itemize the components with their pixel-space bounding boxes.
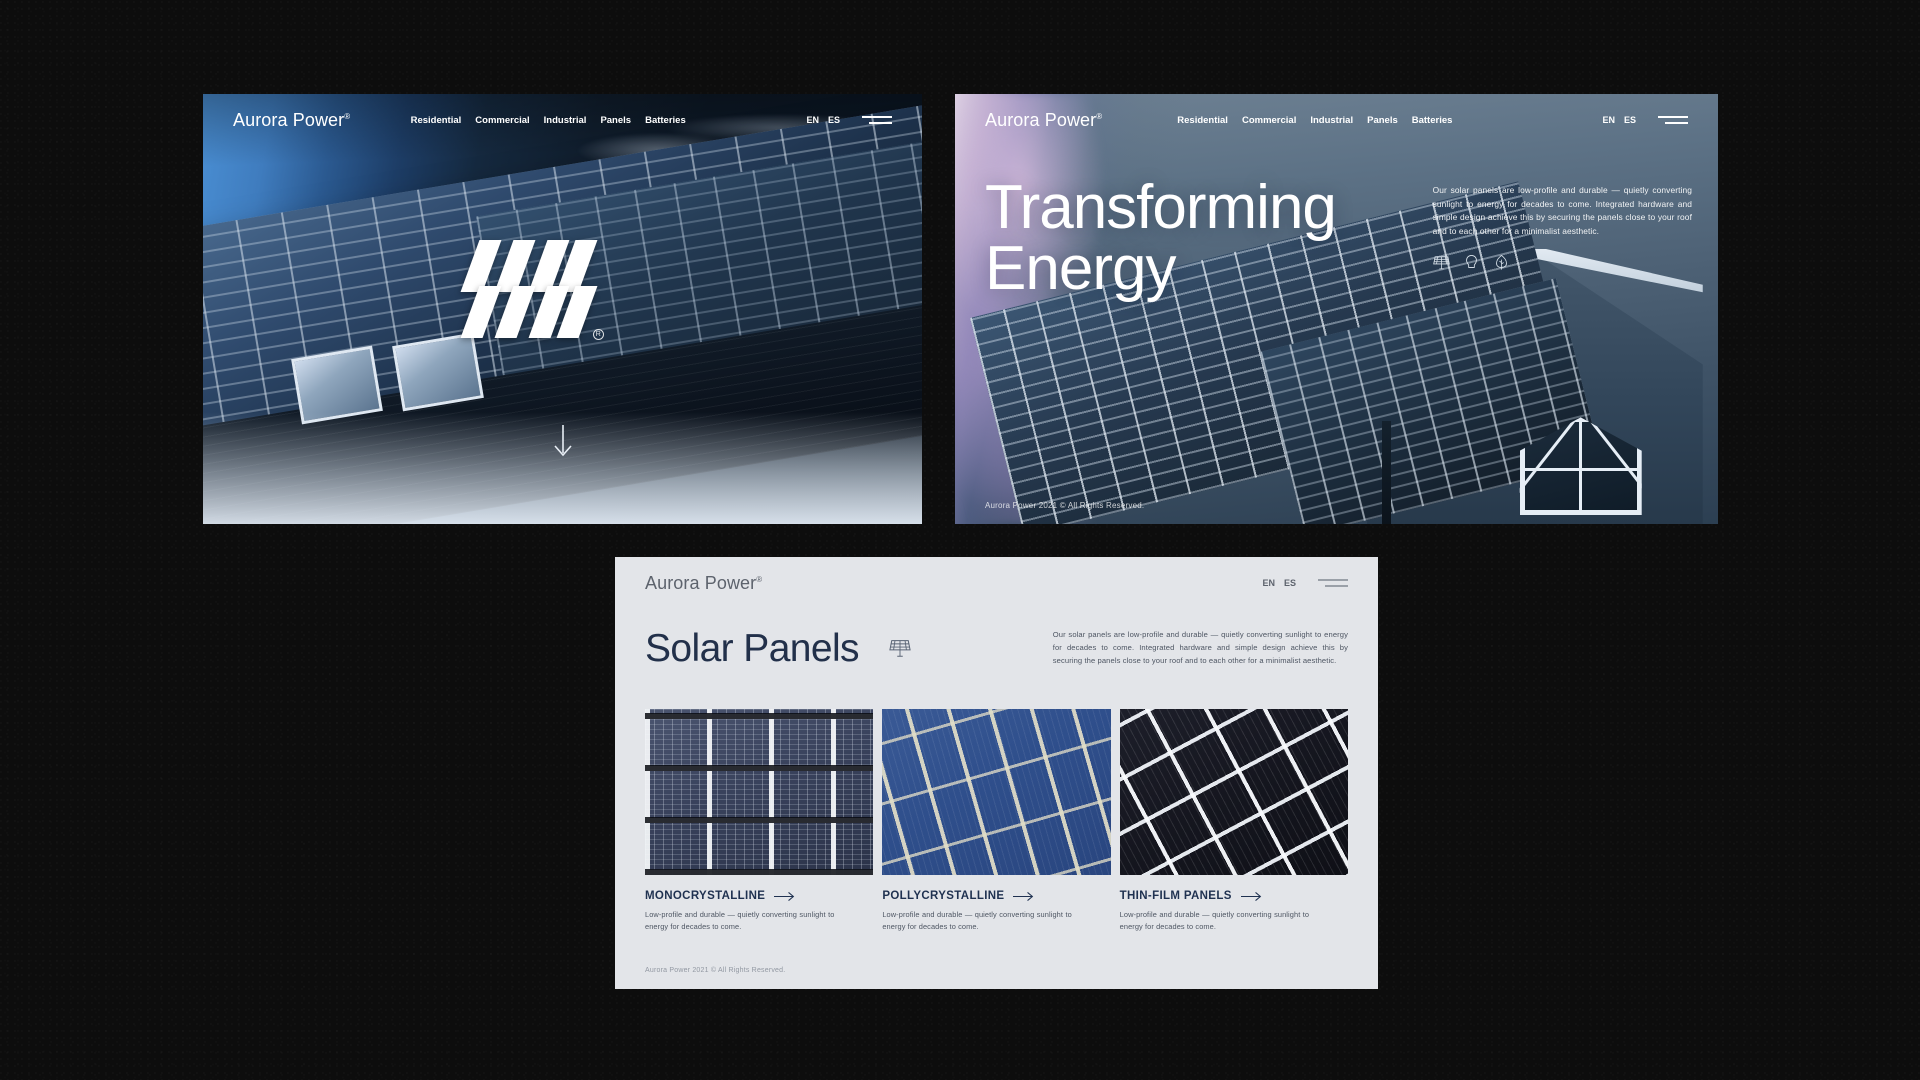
solar-panels-product-screen: Aurora Power® EN ES Solar Panels Our sol… <box>615 557 1378 989</box>
language-switcher: EN ES <box>1262 578 1296 588</box>
brand-logo[interactable]: Aurora Power® <box>985 110 1102 131</box>
nav-item-commercial[interactable]: Commercial <box>475 115 529 126</box>
lang-es[interactable]: ES <box>1284 578 1296 588</box>
product-card-title-row: THIN-FILM PANELS <box>1120 890 1348 902</box>
brand-name: Aurora Power <box>985 110 1096 130</box>
product-description: Low-profile and durable — quietly conver… <box>882 909 1072 933</box>
language-switcher: EN ES <box>1602 115 1636 125</box>
nav-item-residential[interactable]: Residential <box>1177 115 1228 126</box>
transforming-energy-screen: Aurora Power® Residential Commercial Ind… <box>955 94 1718 524</box>
nav-item-panels[interactable]: Panels <box>1367 115 1398 126</box>
lightbulb-icon <box>1463 254 1480 271</box>
page-heading-row: Solar Panels Our solar panels are low-pr… <box>645 629 1348 668</box>
feature-icon-row <box>1433 254 1692 271</box>
hero-headline: Transforming Energy <box>985 178 1412 300</box>
hero-description-block: Our solar panels are low-profile and dur… <box>1433 184 1692 271</box>
nav-item-batteries[interactable]: Batteries <box>1412 115 1453 126</box>
lang-es[interactable]: ES <box>1624 115 1636 125</box>
product-description: Low-profile and durable — quietly conver… <box>1120 909 1310 933</box>
main-nav: Residential Commercial Industrial Panels… <box>1177 115 1452 126</box>
nav-item-batteries[interactable]: Batteries <box>645 115 686 126</box>
product-card-title-row: POLLYCRYSTALLINE <box>882 890 1110 902</box>
brand-trademark: ® <box>756 575 762 584</box>
nav-item-industrial[interactable]: Industrial <box>544 115 587 126</box>
brand-logo[interactable]: Aurora Power® <box>645 573 762 594</box>
main-nav: Residential Commercial Industrial Panels… <box>411 115 686 126</box>
product-image-thin-film <box>1120 709 1348 875</box>
brand-name: Aurora Power <box>645 573 756 593</box>
header-bar: Aurora Power® Residential Commercial Ind… <box>955 94 1718 146</box>
brand-logo[interactable]: Aurora Power® <box>233 110 350 131</box>
arrow-right-icon[interactable] <box>1241 891 1262 902</box>
nav-item-industrial[interactable]: Industrial <box>1310 115 1353 126</box>
hamburger-menu-icon[interactable] <box>862 116 892 123</box>
registered-mark-icon: R <box>593 329 604 340</box>
lang-en[interactable]: EN <box>806 115 819 125</box>
product-card[interactable]: THIN-FILM PANELS Low-profile and durable… <box>1120 709 1348 933</box>
header-bar: Aurora Power® Residential Commercial Ind… <box>203 94 922 146</box>
page-description-block: Our solar panels are low-profile and dur… <box>1053 629 1348 667</box>
nav-item-panels[interactable]: Panels <box>600 115 631 126</box>
hero-description: Our solar panels are low-profile and dur… <box>1433 184 1692 238</box>
page-description: Our solar panels are low-profile and dur… <box>1053 629 1348 667</box>
product-card[interactable]: POLLYCRYSTALLINE Low-profile and durable… <box>882 709 1110 933</box>
product-card-title-row: MONOCRYSTALLINE <box>645 890 873 902</box>
page-title: Solar Panels <box>645 629 859 668</box>
lang-en[interactable]: EN <box>1602 115 1615 125</box>
hero-title-line-1: Transforming <box>985 178 1412 239</box>
skylight <box>392 333 484 412</box>
nav-item-residential[interactable]: Residential <box>411 115 462 126</box>
product-image-monocrystalline <box>645 709 873 875</box>
brand-trademark: ® <box>344 112 350 121</box>
product-title: THIN-FILM PANELS <box>1120 890 1232 902</box>
brand-trademark: ® <box>1096 112 1102 121</box>
product-title: MONOCRYSTALLINE <box>645 890 765 902</box>
solar-panel-icon <box>889 637 911 659</box>
aurora-power-logo-mark: R <box>462 240 590 338</box>
hero-title-line-2: Energy <box>985 239 1412 300</box>
nav-item-commercial[interactable]: Commercial <box>1242 115 1296 126</box>
product-title: POLLYCRYSTALLINE <box>882 890 1004 902</box>
solar-panel-icon <box>1433 254 1450 271</box>
product-image-polycrystalline <box>882 709 1110 875</box>
product-card[interactable]: MONOCRYSTALLINE Low-profile and durable … <box>645 709 873 933</box>
brand-name: Aurora Power <box>233 110 344 130</box>
copyright-text: Aurora Power 2021 © All Rights Reserved. <box>985 501 1144 510</box>
hamburger-menu-icon[interactable] <box>1658 116 1688 123</box>
downspout <box>1382 421 1391 524</box>
copyright-text: Aurora Power 2021 © All Rights Reserved. <box>645 967 785 974</box>
hero-landing-screen: R Aurora Power® Residential Commercial I… <box>203 94 922 524</box>
product-description: Low-profile and durable — quietly conver… <box>645 909 835 933</box>
header-bar: Aurora Power® EN ES <box>615 557 1378 609</box>
language-switcher: EN ES <box>806 115 840 125</box>
product-card-grid: MONOCRYSTALLINE Low-profile and durable … <box>645 709 1348 933</box>
screens-board: R Aurora Power® Residential Commercial I… <box>0 0 1920 1080</box>
tree-icon <box>1493 254 1510 271</box>
scroll-down-arrow-icon[interactable] <box>552 425 574 464</box>
hamburger-menu-icon[interactable] <box>1318 579 1348 586</box>
lang-es[interactable]: ES <box>828 115 840 125</box>
lang-en[interactable]: EN <box>1262 578 1275 588</box>
arrow-right-icon[interactable] <box>1013 891 1034 902</box>
arrow-right-icon[interactable] <box>774 891 795 902</box>
